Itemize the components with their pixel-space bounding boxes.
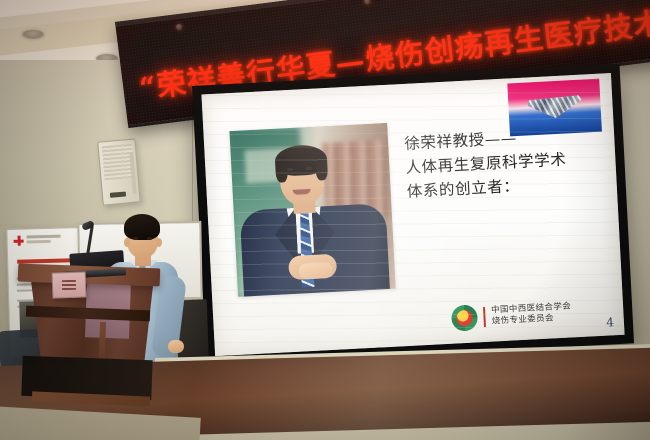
red-cross-icon bbox=[14, 236, 24, 246]
podium-name-card-text bbox=[62, 280, 76, 290]
projection-screen-frame: 徐荣祥教授—— 人体再生复原科学学术 体系的创立者： 中国中西医结合学会 烧伤专… bbox=[192, 64, 634, 366]
slide-portrait-photo bbox=[229, 123, 395, 297]
presenter-ear bbox=[156, 238, 162, 247]
projection-screen: 徐荣祥教授—— 人体再生复原科学学术 体系的创立者： 中国中西医结合学会 烧伤专… bbox=[201, 73, 624, 356]
slide-text-block: 徐荣祥教授—— 人体再生复原科学学术 体系的创立者： bbox=[404, 122, 607, 204]
conference-hall-photo: “荣祥善行华夏—烧伤创疡再生医疗技术基层推广健康行”（广 bbox=[0, 0, 650, 440]
slide-page-number: 4 bbox=[606, 315, 614, 329]
gem-shape-icon bbox=[525, 90, 583, 122]
footer-org-text: 中国中西医结合学会 烧伤专业委员会 bbox=[491, 301, 572, 327]
presenter-eye bbox=[147, 237, 152, 240]
gem-facets bbox=[525, 90, 583, 122]
presenter-hand bbox=[168, 340, 184, 353]
ceiling-downlight bbox=[22, 30, 44, 39]
slide-footer: 中国中西医结合学会 烧伤专业委员会 bbox=[451, 299, 572, 331]
presenter-eye bbox=[133, 237, 138, 240]
poster-brand-text bbox=[27, 235, 61, 239]
presenter-hair bbox=[124, 214, 160, 240]
portrait-hair-side bbox=[315, 154, 328, 181]
presenter-ear bbox=[124, 238, 130, 247]
poster-brand-subtext bbox=[27, 240, 51, 243]
society-emblem-icon bbox=[451, 304, 478, 331]
ac-control-panel bbox=[110, 191, 126, 197]
podium-name-card bbox=[52, 271, 87, 298]
portrait-hand-upper bbox=[298, 262, 333, 280]
footer-divider bbox=[483, 307, 486, 327]
